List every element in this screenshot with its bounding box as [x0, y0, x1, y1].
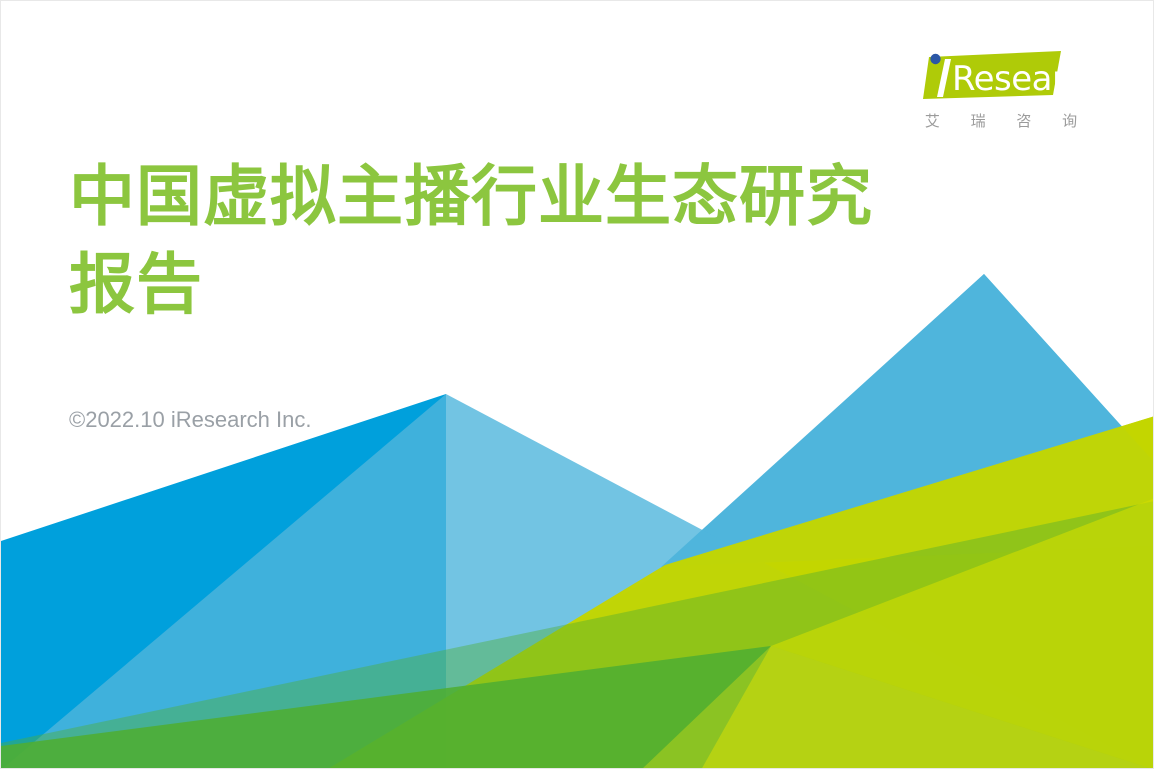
logo-blue-dot-icon	[930, 54, 940, 64]
lime-highlight-shape	[701, 498, 1154, 769]
lime-sliver-shape	[641, 646, 1154, 769]
center-blue-peak-shape	[1, 394, 1154, 769]
logo-chinese-name: 艾 瑞 咨 询	[901, 110, 1101, 131]
logo-wordmark: Research	[952, 59, 1101, 99]
iresearch-logo: Research 艾 瑞 咨 询	[901, 49, 1101, 131]
lime-field-shape	[331, 416, 1154, 769]
page-title: 中国虚拟主播行业生态研究 报告	[69, 153, 1009, 329]
iresearch-logo-mark: Research	[901, 49, 1101, 103]
lime-field-overlay-shape	[326, 416, 1154, 769]
grass-overlay-upper-shape	[1, 501, 1154, 769]
logo-svg: Research	[901, 49, 1101, 103]
grass-overlay-shape	[1, 646, 1154, 769]
page-title-line-1: 中国虚拟主播行业生态研究	[69, 153, 1009, 241]
report-cover-slide: Research 艾 瑞 咨 询 中国虚拟主播行业生态研究 报告 ©2022.1…	[0, 0, 1154, 769]
copyright-text: ©2022.10 iResearch Inc.	[69, 407, 311, 433]
page-title-line-2: 报告	[69, 241, 1009, 329]
left-blue-wedge-shape	[1, 394, 446, 769]
